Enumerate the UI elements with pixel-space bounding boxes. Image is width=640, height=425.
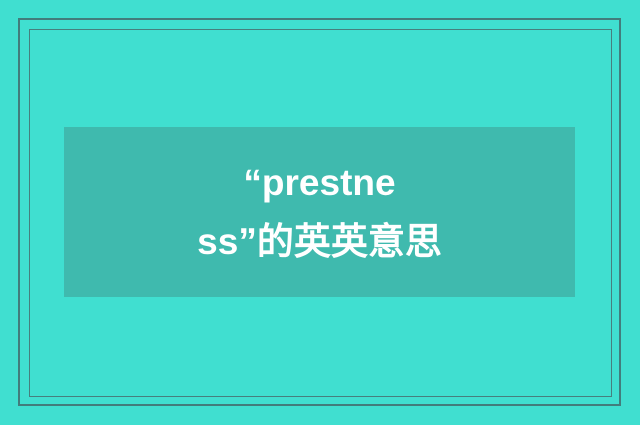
caption-text-block: “prestne ss”的英英意思 bbox=[197, 153, 442, 271]
caption-panel: “prestne ss”的英英意思 bbox=[64, 127, 575, 297]
caption-line-1: “prestne bbox=[197, 153, 442, 212]
poster-canvas: “prestne ss”的英英意思 bbox=[0, 0, 640, 425]
caption-line-2: ss”的英英意思 bbox=[197, 212, 442, 271]
